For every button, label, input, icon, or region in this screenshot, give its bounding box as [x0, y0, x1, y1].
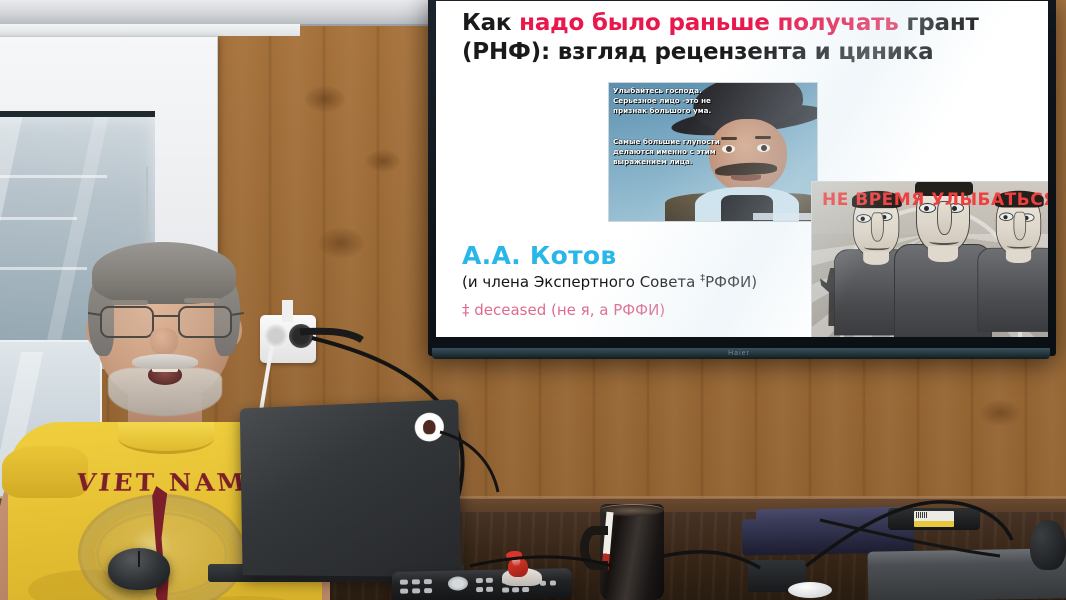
left-lens	[100, 306, 154, 338]
speaker	[1030, 520, 1066, 570]
ceiling-trim-secondary	[0, 24, 300, 36]
ceiling-trim	[0, 0, 440, 26]
slide-title-accent: надо было раньше получать	[519, 10, 898, 36]
slide-title-line-2: (РНФ): взгляд рецензента и циника	[462, 39, 933, 65]
meme-image-musketeer: Улыбайтесь господа. Серьезное лицо -это …	[608, 82, 818, 222]
cartoon-man-right	[996, 192, 1048, 337]
tv-screen: Как надо было раньше получать грант (РНФ…	[436, 1, 1048, 337]
remote-dpad[interactable]	[448, 576, 468, 590]
presenter-affiliation: (и члена Экспертного Совета ‡РФФИ)	[462, 273, 757, 291]
window-latch-stem	[146, 167, 148, 253]
hair-top	[92, 242, 236, 304]
wood-knot	[305, 86, 345, 112]
power-adapter	[888, 508, 980, 530]
computer-mouse[interactable]	[108, 548, 170, 590]
presenter-name: А.А. Котов	[462, 241, 617, 270]
meme-image-stern-men: НЕ ВРЕМЯ УЛЫБАТЬСЯ!	[811, 181, 1048, 337]
white-puck[interactable]	[788, 582, 832, 598]
mustache	[132, 354, 198, 369]
presentation-slide: Как надо было раньше получать грант (РНФ…	[436, 1, 1048, 337]
presenter-footnote: ‡ deceased (не я, а РФФИ)	[462, 301, 665, 319]
meme-watermark-bar	[753, 213, 815, 220]
slide-title-segment-2: грант	[899, 10, 979, 36]
nose	[150, 328, 178, 356]
figurine	[496, 552, 544, 586]
meme-caption-part-1: Улыбайтесь господа. Серьезное лицо -это …	[613, 86, 745, 117]
slide-title: Как надо было раньше получать грант (РНФ…	[462, 9, 1034, 68]
right-lens	[178, 306, 232, 338]
wall-tv: Как надо было раньше получать грант (РНФ…	[428, 0, 1056, 356]
meme-caption-part-2: Самые большие глупости делаются именно с…	[613, 137, 745, 168]
mug-handle	[580, 526, 608, 570]
tv-remote[interactable]	[392, 568, 573, 600]
screenshot-root: Как надо было раньше получать грант (РНФ…	[0, 0, 1066, 600]
affiliation-pre: (и члена Экспертного Совета	[462, 273, 700, 291]
tv-brand-logo: Haier	[716, 349, 762, 358]
wood-knot	[980, 400, 1020, 426]
tshirt-text: VIET NAM	[59, 469, 265, 497]
slide-title-segment-1: Как	[462, 10, 519, 36]
coffee-mug[interactable]	[600, 504, 664, 600]
affiliation-post: РФФИ)	[705, 273, 757, 291]
adapter-label	[914, 511, 954, 527]
wood-knot	[366, 150, 400, 172]
tshirt-collar	[118, 422, 214, 454]
laptop-front[interactable]	[240, 399, 462, 577]
mouth	[731, 175, 761, 181]
laptop-sticker	[415, 412, 445, 442]
meme-headline: НЕ ВРЕМЯ УЛЫБАТЬСЯ!	[822, 190, 1046, 210]
